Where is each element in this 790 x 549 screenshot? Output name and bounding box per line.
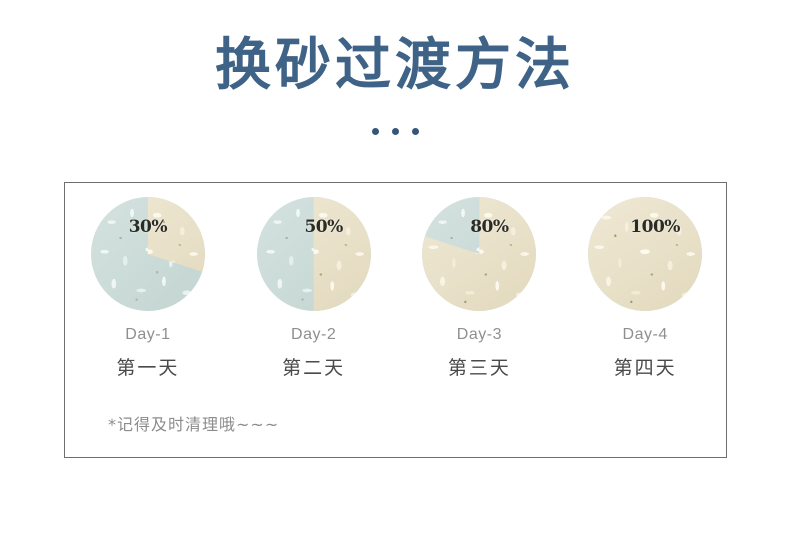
ornament-dot — [392, 128, 399, 135]
day-label-en-2: Day-2 — [291, 326, 336, 344]
day-label-en-1: Day-1 — [125, 326, 170, 344]
litter-circle-day-3: 80% — [422, 197, 536, 311]
content-frame: 30% Day-1 第一天 50% Day-2 第二天 80% Day-3 第三… — [64, 182, 727, 458]
steps-row: 30% Day-1 第一天 50% Day-2 第二天 80% Day-3 第三… — [65, 197, 728, 380]
day-label-cn-4: 第四天 — [614, 353, 677, 380]
day-label-en-4: Day-4 — [623, 326, 668, 344]
percent-label-day-1: 30% — [91, 217, 205, 237]
ornament-dot — [372, 128, 379, 135]
day-label-cn-1: 第一天 — [116, 353, 179, 380]
percent-label-day-4: 100% — [598, 217, 702, 237]
litter-circle-day-2: 50% — [257, 197, 371, 311]
litter-circle-day-1: 30% — [91, 197, 205, 311]
litter-circle-day-4: 100% — [588, 197, 702, 311]
new-litter-wedge — [588, 197, 702, 311]
day-label-cn-2: 第二天 — [282, 353, 345, 380]
day-label-cn-3: 第三天 — [448, 353, 511, 380]
footnote: *记得及时清理哦~~~ — [108, 411, 279, 435]
percent-label-day-3: 80% — [432, 217, 536, 237]
day-label-en-3: Day-3 — [457, 326, 502, 344]
page-title: 换砂过渡方法 — [0, 34, 790, 98]
step-day-2: 50% Day-2 第二天 — [239, 197, 389, 380]
ornament-dot — [412, 128, 419, 135]
step-day-4: 100% Day-4 第四天 — [570, 197, 720, 380]
step-day-1: 30% Day-1 第一天 — [73, 197, 223, 380]
dots-ornament — [0, 128, 790, 135]
step-day-3: 80% Day-3 第三天 — [404, 197, 554, 380]
percent-label-day-2: 50% — [267, 217, 371, 237]
